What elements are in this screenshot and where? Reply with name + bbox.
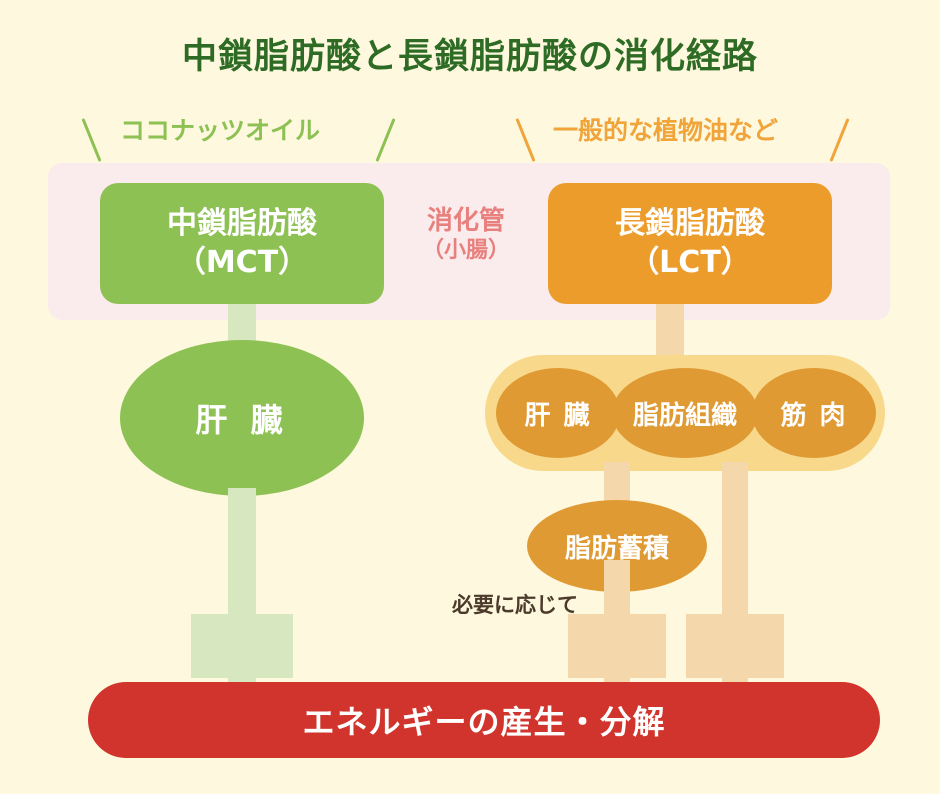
source-label-coconut-oil: ココナッツオイル <box>120 118 320 143</box>
digestive-tract-label: 消化管 （小腸） <box>396 206 536 265</box>
lct-muscle-node[interactable]: 筋 肉 <box>752 368 876 458</box>
diagram-canvas: 中鎖脂肪酸と長鎖脂肪酸の消化経路 ココナッツオイル 一般的な植物油など 中鎖脂肪… <box>0 0 940 794</box>
left-source-slash-end <box>375 118 395 162</box>
mct-box-name: 中鎖脂肪酸 <box>167 205 317 243</box>
page-title: 中鎖脂肪酸と長鎖脂肪酸の消化経路 <box>0 36 940 78</box>
left-source-slash-start <box>81 118 101 162</box>
arrow-fat-storage-to-energy-head-icon <box>568 614 666 678</box>
lct-box-abbr: （LCT） <box>629 244 751 282</box>
digestive-tract-label-line2: （小腸） <box>396 238 536 265</box>
lct-box[interactable]: 長鎖脂肪酸 （LCT） <box>548 183 832 304</box>
energy-outcome-banner[interactable]: エネルギーの産生・分解 <box>88 682 880 758</box>
lct-adipose-node[interactable]: 脂肪組織 <box>612 368 758 458</box>
right-source-slash-end <box>829 118 849 162</box>
mct-box-abbr: （MCT） <box>176 244 308 282</box>
arrow-mct-to-energy-head-icon <box>191 614 293 678</box>
mct-box[interactable]: 中鎖脂肪酸 （MCT） <box>100 183 384 304</box>
connector-lct-to-organs <box>656 300 684 358</box>
as-needed-note: 必要に応じて <box>452 589 578 619</box>
lct-liver-node[interactable]: 肝 臓 <box>496 368 620 458</box>
lct-box-name: 長鎖脂肪酸 <box>615 205 765 243</box>
digestive-tract-label-line1: 消化管 <box>396 206 536 238</box>
right-source-slash-start <box>515 118 535 162</box>
arrow-muscle-to-energy-head-icon <box>686 614 784 678</box>
source-label-vegetable-oil: 一般的な植物油など <box>553 118 778 143</box>
mct-liver-node[interactable]: 肝 臓 <box>120 340 364 496</box>
